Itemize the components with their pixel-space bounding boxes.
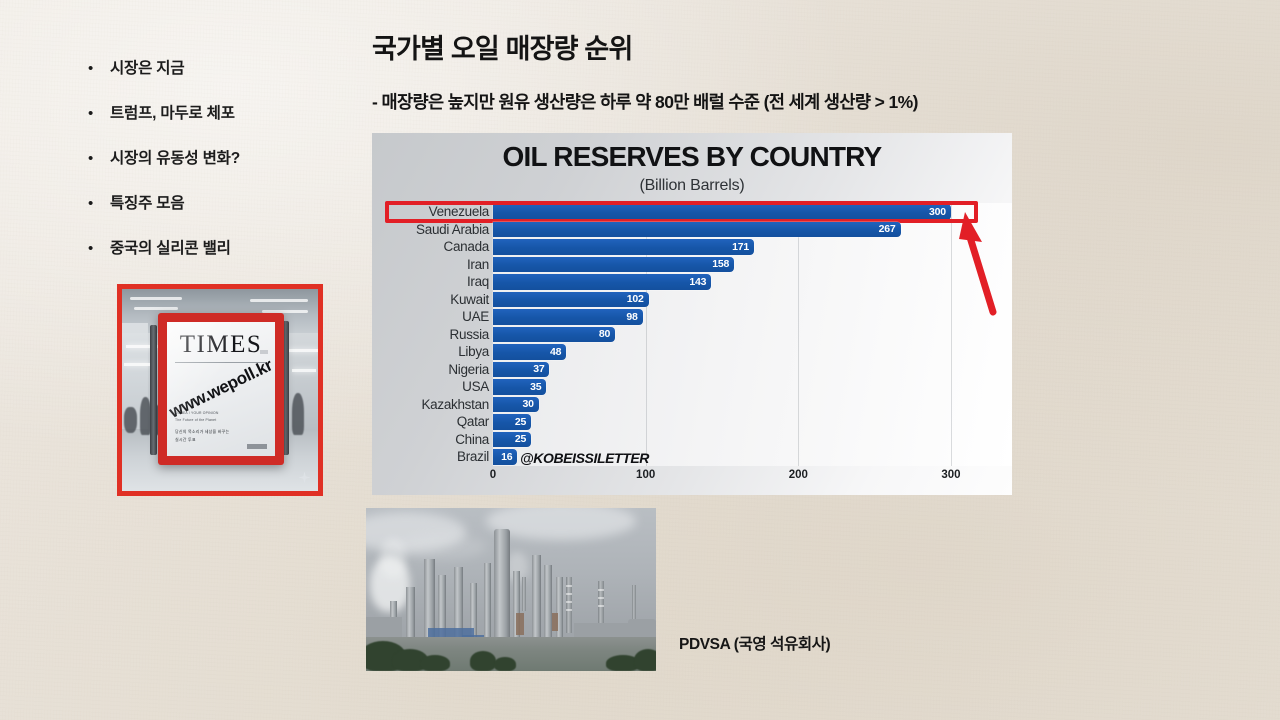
bar[interactable]: 35 <box>493 379 546 395</box>
bar-track: 158 <box>493 256 1012 274</box>
x-tick-300: 300 <box>941 469 960 481</box>
bar-value-label: 48 <box>550 346 566 358</box>
bullet-marker-icon: • <box>88 103 110 125</box>
x-tick-200: 200 <box>789 469 808 481</box>
bar-row[interactable]: Libya48 <box>372 343 1012 361</box>
bar-value-label: 25 <box>515 433 531 445</box>
agenda-item-label: 특징주 모음 <box>110 193 184 215</box>
bullet-marker-icon: • <box>88 193 110 215</box>
agenda-list: •시장은 지금•트럼프, 마두로 체포•시장의 유동성 변화?•특징주 모음•중… <box>88 58 360 283</box>
bullet-marker-icon: • <box>88 148 110 170</box>
site-watermark: www.wepoll.kr <box>167 355 275 422</box>
bar-category-label: Nigeria <box>372 361 493 379</box>
agenda-item-3[interactable]: •시장의 유동성 변화? <box>88 148 360 193</box>
bar-value-label: 37 <box>533 363 549 375</box>
bar-track: 171 <box>493 238 1012 256</box>
bar-category-label: China <box>372 431 493 449</box>
bar-category-label: Libya <box>372 343 493 361</box>
bar-category-label: Iran <box>372 256 493 274</box>
bar-category-label: Saudi Arabia <box>372 221 493 239</box>
bar[interactable]: 267 <box>493 222 901 238</box>
bar-category-label: UAE <box>372 308 493 326</box>
agenda-item-label: 트럼프, 마두로 체포 <box>110 103 235 125</box>
bar-row[interactable]: Kuwait102 <box>372 291 1012 309</box>
bar-track: 80 <box>493 326 1012 344</box>
red-arrow-icon <box>955 206 1001 318</box>
bar-row[interactable]: Canada171 <box>372 238 1012 256</box>
bar-track: 267 <box>493 221 1012 239</box>
billboard-frame: TIMES KOREA / YOUR OPINION The Future of… <box>158 313 284 465</box>
bar[interactable]: 48 <box>493 344 566 360</box>
bar-track: 300 <box>493 203 1012 221</box>
bar-category-label: Iraq <box>372 273 493 291</box>
bar[interactable]: 25 <box>493 432 531 448</box>
x-axis: 0100200300 <box>372 469 1012 491</box>
bar[interactable]: 80 <box>493 327 615 343</box>
bar-value-label: 143 <box>689 276 711 288</box>
billboard-scene: TIMES KOREA / YOUR OPINION The Future of… <box>122 289 318 491</box>
bar-track: 30 <box>493 396 1012 414</box>
refinery-photo <box>366 508 656 671</box>
bar-track: 98 <box>493 308 1012 326</box>
oil-reserves-chart: OIL RESERVES BY COUNTRY (Billion Barrels… <box>372 133 1012 495</box>
agenda-item-label: 시장의 유동성 변화? <box>110 148 240 170</box>
magazine-title: TIMES <box>167 331 275 359</box>
bar-value-label: 158 <box>712 258 734 270</box>
chart-subtitle: (Billion Barrels) <box>372 177 1012 195</box>
bar-category-label: Kazakhstan <box>372 396 493 414</box>
cover-line-3: 당신의 목소리가 세상을 바꾸는 <box>175 429 229 435</box>
bar-category-label: USA <box>372 378 493 396</box>
bar-value-label: 98 <box>626 311 642 323</box>
bar-row[interactable]: Iraq143 <box>372 273 1012 291</box>
bar[interactable]: 30 <box>493 397 539 413</box>
bar-row[interactable]: UAE98 <box>372 308 1012 326</box>
page-subtitle: - 매장량은 높지만 원유 생산량은 하루 약 80만 배럴 수준 (전 세계 … <box>372 89 918 114</box>
cover-logo <box>247 444 267 449</box>
bar[interactable]: 158 <box>493 257 734 273</box>
bar-value-label: 267 <box>879 223 901 235</box>
bar[interactable]: 37 <box>493 362 549 378</box>
bar[interactable]: 98 <box>493 309 643 325</box>
bar-row[interactable]: Qatar25 <box>372 413 1012 431</box>
bullet-marker-icon: • <box>88 238 110 260</box>
cover-badge <box>260 350 268 354</box>
bar-track: 35 <box>493 378 1012 396</box>
bar-value-label: 35 <box>530 381 546 393</box>
bar-value-label: 25 <box>515 416 531 428</box>
agenda-item-2[interactable]: •트럼프, 마두로 체포 <box>88 103 360 148</box>
bar[interactable]: 300 <box>493 204 951 220</box>
bar-value-label: 30 <box>523 398 539 410</box>
chart-title: OIL RESERVES BY COUNTRY <box>372 141 1012 173</box>
bar-track: 143 <box>493 273 1012 291</box>
bar-track: 37 <box>493 361 1012 379</box>
agenda-item-1[interactable]: •시장은 지금 <box>88 58 360 103</box>
bar-row[interactable]: Russia80 <box>372 326 1012 344</box>
bullet-marker-icon: • <box>88 58 110 80</box>
x-tick-0: 0 <box>490 469 496 481</box>
bar-value-label: 171 <box>732 241 754 253</box>
bar-value-label: 80 <box>599 328 615 340</box>
x-tick-100: 100 <box>636 469 655 481</box>
bar[interactable]: 143 <box>493 274 711 290</box>
treeline <box>366 637 656 671</box>
bar-category-label: Qatar <box>372 413 493 431</box>
bar[interactable]: 171 <box>493 239 754 255</box>
cover-line-4: 실시간 투표 <box>175 437 196 443</box>
agenda-item-label: 중국의 실리콘 밸리 <box>110 238 231 260</box>
bar-value-label: 16 <box>501 451 517 463</box>
agenda-item-4[interactable]: •특징주 모음 <box>88 193 360 238</box>
bar-track: 48 <box>493 343 1012 361</box>
bar-track: 25 <box>493 431 1012 449</box>
bar-row[interactable]: Kazakhstan30 <box>372 396 1012 414</box>
bar-row[interactable]: Venezuela300 <box>372 203 1012 221</box>
bar-row[interactable]: Nigeria37 <box>372 361 1012 379</box>
bar-category-label: Kuwait <box>372 291 493 309</box>
bar[interactable]: 16 <box>493 449 517 465</box>
bar-rows: Venezuela300Saudi Arabia267Canada171Iran… <box>372 203 1012 466</box>
bar-value-label: 102 <box>627 293 649 305</box>
bar-row[interactable]: Brazil16 <box>372 448 1012 466</box>
chart-plot-area: Venezuela300Saudi Arabia267Canada171Iran… <box>372 203 1012 495</box>
agenda-item-label: 시장은 지금 <box>110 58 184 80</box>
bar-row[interactable]: Iran158 <box>372 256 1012 274</box>
page-title: 국가별 오일 매장량 순위 <box>372 27 633 66</box>
agenda-item-5[interactable]: •중국의 실리콘 밸리 <box>88 238 360 283</box>
sparkle-icon <box>298 471 311 484</box>
bar-row[interactable]: China25 <box>372 431 1012 449</box>
billboard-photo: TIMES KOREA / YOUR OPINION The Future of… <box>117 284 323 496</box>
chart-watermark: @KOBEISSILETTER <box>520 450 649 466</box>
bar-category-label: Brazil <box>372 448 493 466</box>
bar-category-label: Canada <box>372 238 493 256</box>
bar-row[interactable]: Saudi Arabia267 <box>372 221 1012 239</box>
bar-category-label: Venezuela <box>372 203 493 221</box>
bar-value-label: 300 <box>929 206 951 218</box>
bar-track: 25 <box>493 413 1012 431</box>
bar[interactable]: 25 <box>493 414 531 430</box>
refinery-caption: PDVSA (국영 석유회사) <box>679 632 830 654</box>
magazine-cover: TIMES KOREA / YOUR OPINION The Future of… <box>167 322 275 456</box>
bar-row[interactable]: USA35 <box>372 378 1012 396</box>
bar-category-label: Russia <box>372 326 493 344</box>
bar-track: 102 <box>493 291 1012 309</box>
bar[interactable]: 102 <box>493 292 649 308</box>
